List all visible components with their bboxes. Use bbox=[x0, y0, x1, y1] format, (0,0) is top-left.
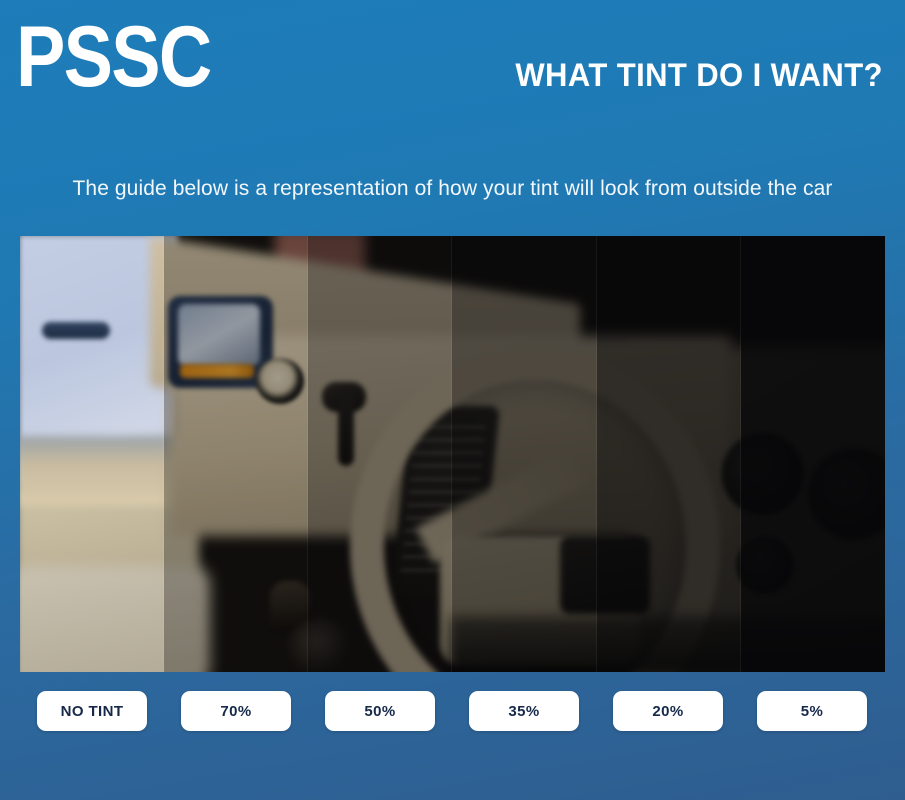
tint-comparison-image bbox=[20, 236, 885, 672]
tint-panel-no-tint bbox=[20, 236, 164, 672]
tint-panel-50- bbox=[308, 236, 452, 672]
tint-label-slot: 50% bbox=[308, 690, 452, 732]
tint-label-70-[interactable]: 70% bbox=[181, 691, 291, 731]
page-subtitle: The guide below is a representation of h… bbox=[0, 176, 905, 202]
tint-label-5-[interactable]: 5% bbox=[757, 691, 867, 731]
tint-label-50-[interactable]: 50% bbox=[325, 691, 435, 731]
tint-label-slot: 35% bbox=[452, 690, 596, 732]
tint-label-slot: NO TINT bbox=[20, 690, 164, 732]
tint-label-slot: 20% bbox=[596, 690, 740, 732]
tint-panel-35- bbox=[452, 236, 596, 672]
tint-overlay-strip bbox=[20, 236, 885, 672]
tint-label-slot: 70% bbox=[164, 690, 308, 732]
tint-label-35-[interactable]: 35% bbox=[469, 691, 579, 731]
pssc-logo: PSSC bbox=[16, 14, 211, 100]
tint-panel-20- bbox=[597, 236, 741, 672]
tint-label-20-[interactable]: 20% bbox=[613, 691, 723, 731]
tint-label-no-tint[interactable]: NO TINT bbox=[37, 691, 147, 731]
tint-label-slot: 5% bbox=[740, 690, 884, 732]
tint-panel-5- bbox=[741, 236, 885, 672]
tint-panel-70- bbox=[164, 236, 308, 672]
page-title: WHAT TINT DO I WANT? bbox=[515, 58, 883, 92]
tint-label-row: NO TINT70%50%35%20%5% bbox=[20, 690, 885, 732]
